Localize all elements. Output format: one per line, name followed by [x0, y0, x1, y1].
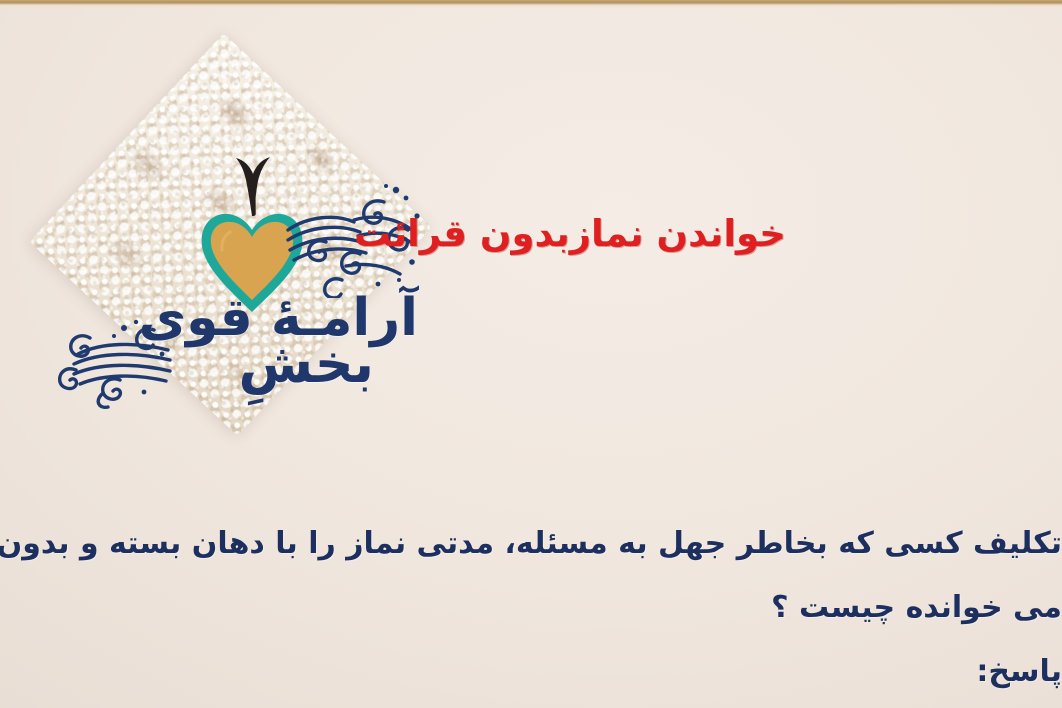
answer-label: پاسخ: [4, 640, 1062, 704]
poster-title: خواندن نمازبدون قرائت [0, 212, 1062, 255]
question-text-block: تکلیف کسی که بخاطر جهل به مسئله، مدتی نم… [0, 512, 1062, 704]
question-line-1: تکلیف کسی که بخاطر جهل به مسئله، مدتی نم… [4, 512, 1062, 576]
logo-calligraphy-line-2: بخشِ [238, 332, 374, 395]
logo-calligraphy: آرامـۀ قوی بخشِ [70, 280, 420, 420]
top-accent-bar-highlight [0, 5, 1062, 8]
question-line-2: می خوانده چیست ؟ [4, 576, 1062, 640]
poster-canvas: آرامـۀ قوی بخشِ خواندن نمازبدون قرائت تک… [0, 0, 1062, 708]
